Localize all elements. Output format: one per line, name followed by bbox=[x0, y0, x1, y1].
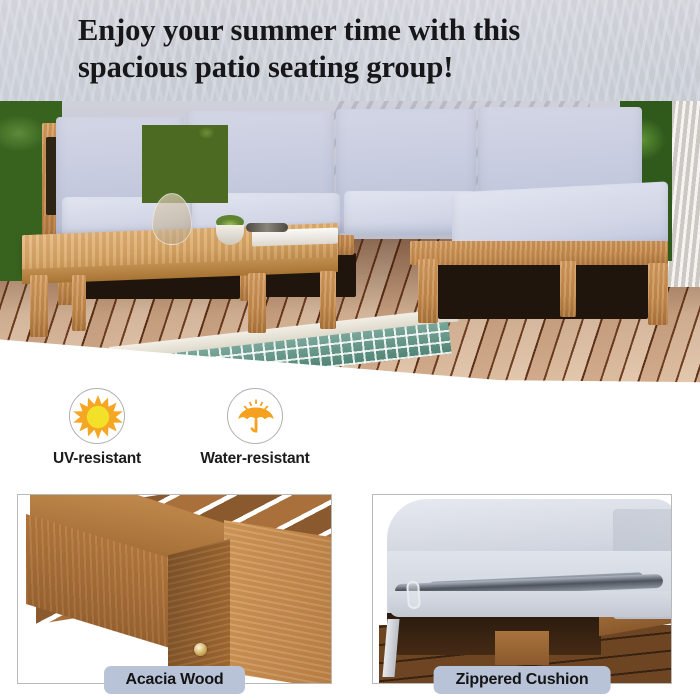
zippered-cushion-photo bbox=[373, 495, 671, 683]
cushion-lower-lip bbox=[389, 591, 671, 617]
chaise-leg bbox=[648, 263, 668, 325]
under-cushion-shadow bbox=[387, 613, 601, 655]
coffee-table-leg bbox=[248, 273, 266, 333]
feature-badges: UV-resistant Water-resist bbox=[0, 386, 700, 482]
umbrella-icon bbox=[228, 389, 284, 445]
sun-icon bbox=[70, 389, 126, 445]
coffee-table-leg bbox=[30, 275, 48, 337]
zipper-pull-icon bbox=[406, 581, 421, 610]
acacia-wood-photo bbox=[18, 495, 331, 683]
coffee-table-leg bbox=[72, 275, 86, 331]
acacia-wood-panel: Acacia Wood bbox=[17, 494, 332, 684]
feature-label: Water-resistant bbox=[180, 450, 330, 468]
chaise-leg bbox=[418, 259, 438, 323]
sunglasses bbox=[246, 223, 288, 232]
feature-label: UV-resistant bbox=[22, 450, 172, 468]
cushion-closeup-art bbox=[373, 495, 671, 683]
acacia-wood-caption: Acacia Wood bbox=[104, 666, 246, 694]
chaise-frame-rail bbox=[410, 241, 668, 265]
page-title: Enjoy your summer time with this spaciou… bbox=[78, 12, 678, 86]
wood-corner-joint bbox=[168, 539, 230, 683]
header-banner: Enjoy your summer time with this spaciou… bbox=[0, 0, 700, 101]
zippered-cushion-caption: Zippered Cushion bbox=[434, 666, 611, 694]
product-infographic: Enjoy your summer time with this spaciou… bbox=[0, 0, 700, 700]
wood-side-face bbox=[224, 520, 331, 683]
under-chaise-shadow bbox=[438, 261, 648, 319]
plant-branch bbox=[142, 125, 228, 203]
coffee-table-leg bbox=[320, 271, 336, 329]
chaise-leg bbox=[560, 261, 576, 317]
feature-uv-resistant: UV-resistant bbox=[22, 388, 172, 468]
wood-support-block bbox=[495, 631, 549, 665]
icon-circle bbox=[69, 388, 125, 444]
wood-closeup-art bbox=[18, 495, 331, 683]
icon-circle bbox=[227, 388, 283, 444]
hero-product-photo bbox=[0, 101, 700, 385]
screw-icon bbox=[194, 643, 207, 656]
feature-water-resistant: Water-resistant bbox=[180, 388, 330, 468]
zippered-cushion-panel: Zippered Cushion bbox=[372, 494, 672, 684]
